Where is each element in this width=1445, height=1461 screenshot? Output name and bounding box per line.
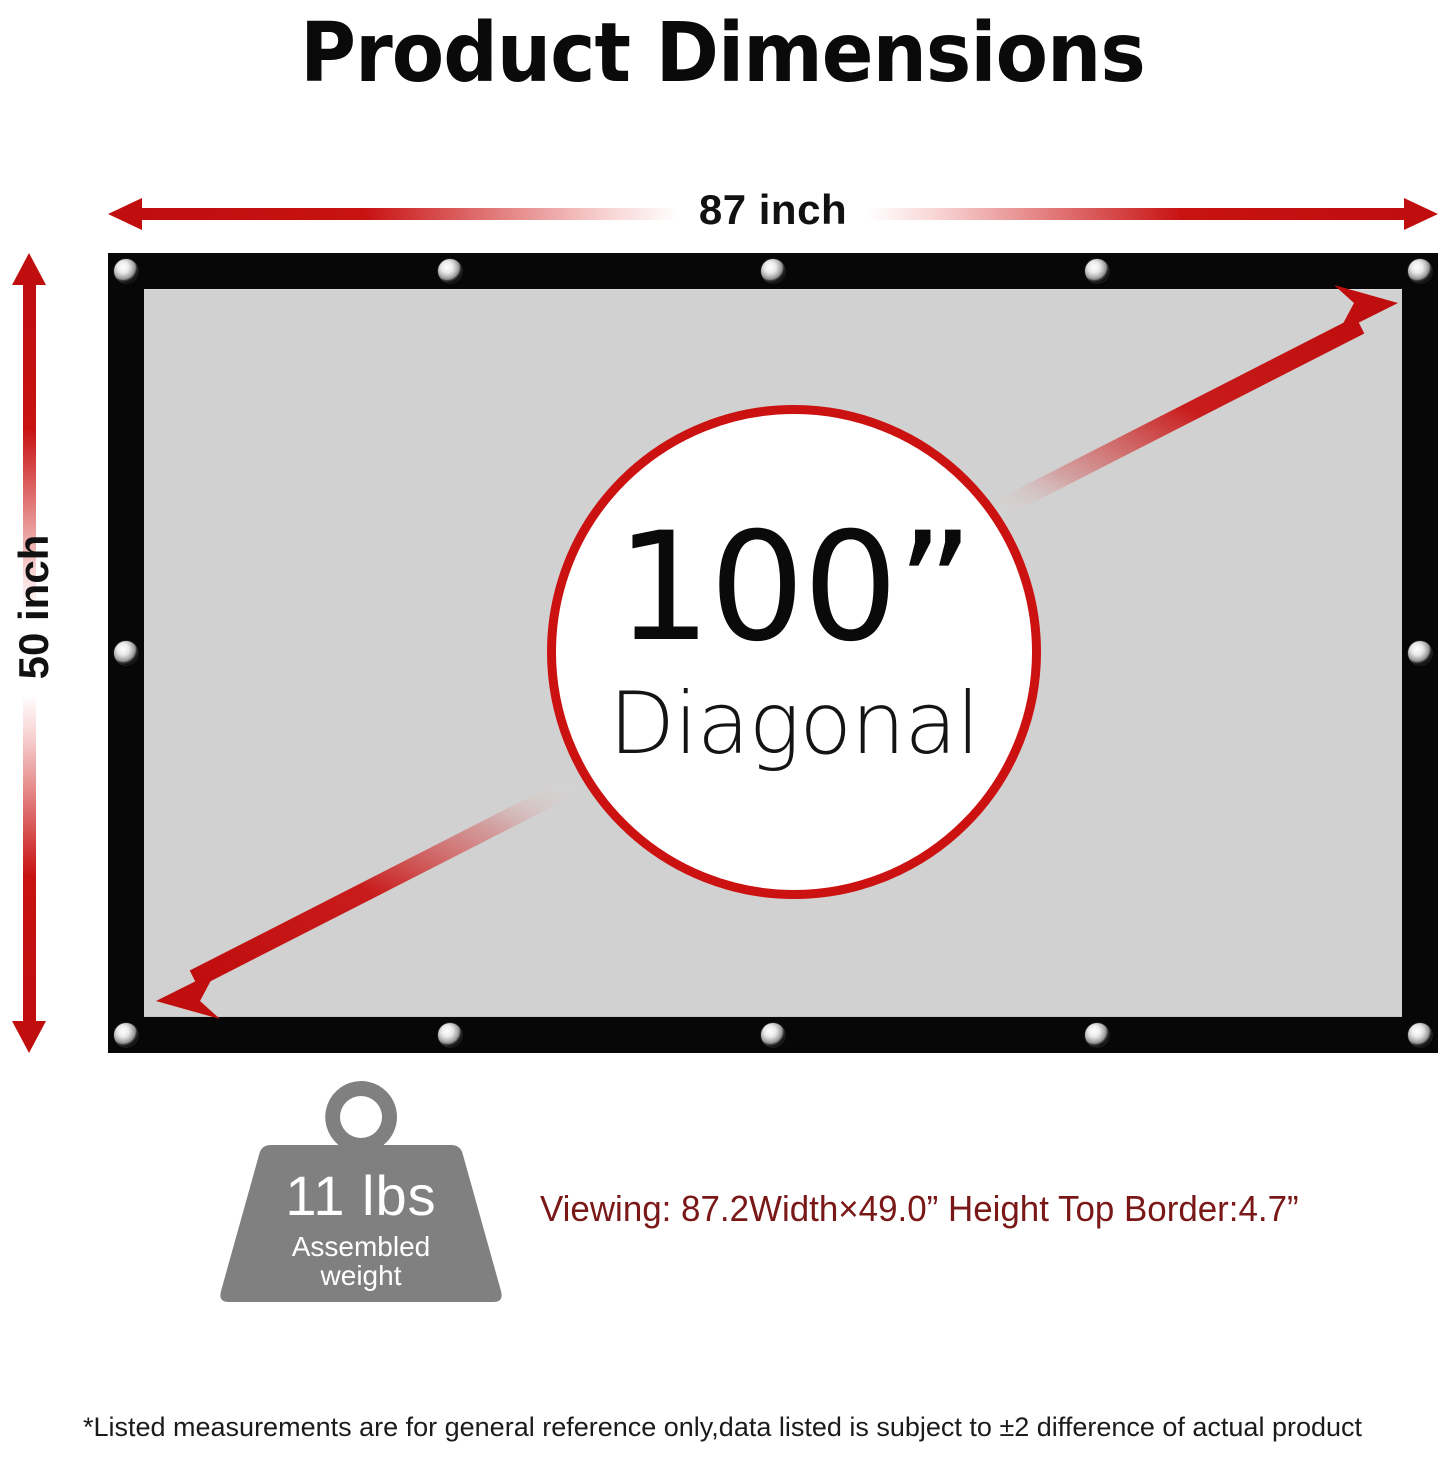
assembled-weight-badge: 11 lbs Assembled weight <box>213 1073 509 1308</box>
grommet-top-3 <box>761 259 785 283</box>
weight-value: 11 lbs <box>213 1168 509 1224</box>
grommet-bottom-4 <box>1085 1023 1109 1047</box>
grommet-left-2 <box>114 641 138 665</box>
height-dimension-label: 50 inch <box>10 507 58 707</box>
grommet-top-1 <box>114 259 138 283</box>
page-title: Product Dimensions <box>51 6 1395 101</box>
weight-text-group: 11 lbs Assembled weight <box>213 1168 509 1290</box>
grommet-bottom-5 <box>1408 1023 1432 1047</box>
weight-caption: Assembled weight <box>213 1233 509 1290</box>
diagonal-size-badge: 100” Diagonal <box>547 405 1041 899</box>
grommet-bottom-2 <box>438 1023 462 1047</box>
grommet-top-5 <box>1408 259 1432 283</box>
grommet-top-4 <box>1085 259 1109 283</box>
width-dimension-label: 87 inch <box>108 186 1438 234</box>
grommet-bottom-1 <box>114 1023 138 1047</box>
height-dimension-arrow: 50 inch <box>2 253 62 1053</box>
footnote-text: *Listed measurements are for general ref… <box>0 1412 1445 1443</box>
diagonal-size-caption: Diagonal <box>609 681 979 767</box>
diagonal-size-value: 100” <box>616 513 972 663</box>
weight-caption-line-1: Assembled <box>213 1233 509 1262</box>
grommet-right-2 <box>1408 641 1432 665</box>
grommet-bottom-3 <box>761 1023 785 1047</box>
arrow-head-down-icon <box>12 1021 46 1053</box>
weight-caption-line-2: weight <box>213 1262 509 1291</box>
viewing-spec-text: Viewing: 87.2Width×49.0” Height Top Bord… <box>540 1188 1299 1230</box>
arrow-shaft-bottom <box>23 695 36 1025</box>
width-dimension-arrow: 87 inch <box>108 190 1438 238</box>
grommet-top-2 <box>438 259 462 283</box>
